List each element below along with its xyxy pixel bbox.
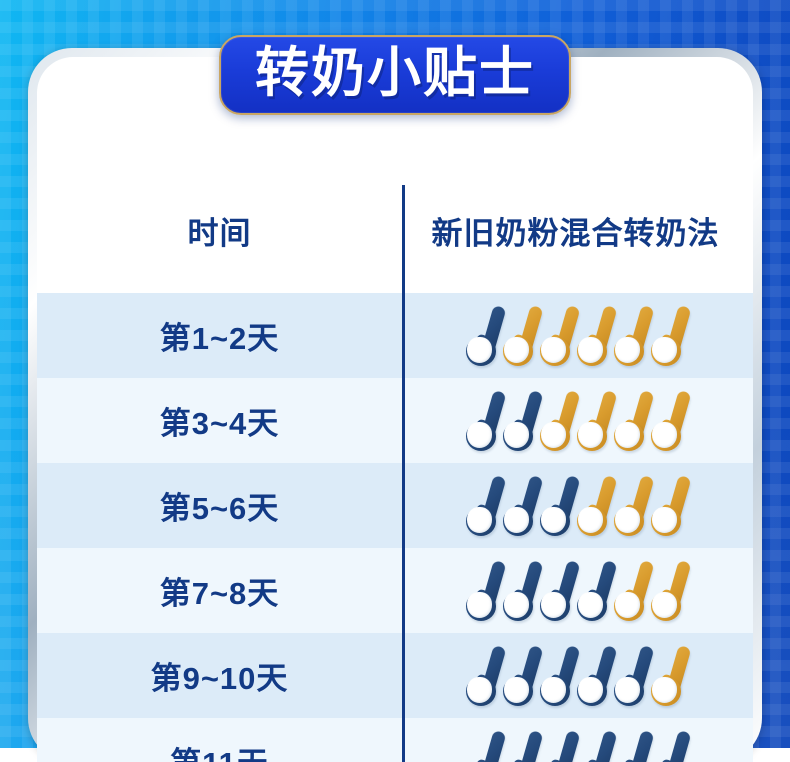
column-divider <box>402 185 405 762</box>
scoop-new-formula-icon <box>464 390 501 452</box>
card-chrome-frame: 时间 新旧奶粉混合转奶法 第1~2天第3~4天第5~6天第7~8天第9~10天第… <box>28 48 762 762</box>
scoop-bowl <box>541 677 566 703</box>
scoop-old-formula-icon <box>575 305 612 367</box>
scoop-old-formula-icon <box>612 390 649 452</box>
scoop-bowl <box>578 677 603 703</box>
scoop-bowl <box>652 422 677 448</box>
content-card: 时间 新旧奶粉混合转奶法 第1~2天第3~4天第5~6天第7~8天第9~10天第… <box>37 57 753 762</box>
row-label-time: 第3~4天 <box>37 398 402 443</box>
scoop-old-formula-icon <box>575 390 612 452</box>
scoop-new-formula-icon <box>575 730 612 762</box>
scoop-old-formula-icon <box>575 475 612 537</box>
scoop-bowl <box>578 592 603 618</box>
table-body: 第1~2天第3~4天第5~6天第7~8天第9~10天第11天 <box>37 293 753 762</box>
scoop-bowl <box>504 422 529 448</box>
scoop-bowl <box>578 337 603 363</box>
scoop-new-formula-icon <box>612 730 649 762</box>
scoop-old-formula-icon <box>538 390 575 452</box>
scoop-old-formula-icon <box>612 560 649 622</box>
row-scoop-group <box>402 645 753 707</box>
row-label-time: 第1~2天 <box>37 313 402 358</box>
scoop-bowl <box>578 507 603 533</box>
scoop-old-formula-icon <box>649 560 686 622</box>
scoop-bowl <box>541 507 566 533</box>
title-banner-wrap: 转奶小贴士 <box>0 35 790 115</box>
scoop-bowl <box>615 422 640 448</box>
scoop-new-formula-icon <box>501 390 538 452</box>
transition-table: 时间 新旧奶粉混合转奶法 第1~2天第3~4天第5~6天第7~8天第9~10天第… <box>37 167 753 762</box>
table-row: 第11天 <box>37 718 753 762</box>
scoop-new-formula-icon <box>538 645 575 707</box>
table-header-row: 时间 新旧奶粉混合转奶法 <box>37 167 753 293</box>
scoop-bowl <box>541 337 566 363</box>
scoop-bowl <box>652 337 677 363</box>
scoop-new-formula-icon <box>501 645 538 707</box>
scoop-new-formula-icon <box>464 645 501 707</box>
table-row: 第9~10天 <box>37 633 753 718</box>
table-row: 第7~8天 <box>37 548 753 633</box>
table-row: 第5~6天 <box>37 463 753 548</box>
scoop-bowl <box>504 507 529 533</box>
scoop-old-formula-icon <box>538 305 575 367</box>
scoop-bowl <box>467 677 492 703</box>
scoop-new-formula-icon <box>464 475 501 537</box>
scoop-new-formula-icon <box>464 730 501 762</box>
scoop-bowl <box>541 422 566 448</box>
row-label-time: 第11天 <box>37 738 402 762</box>
scoop-old-formula-icon <box>649 390 686 452</box>
scoop-bowl <box>467 507 492 533</box>
scoop-new-formula-icon <box>612 645 649 707</box>
column-header-time: 时间 <box>37 208 402 253</box>
scoop-bowl <box>615 337 640 363</box>
scoop-bowl <box>467 422 492 448</box>
scoop-old-formula-icon <box>612 475 649 537</box>
scoop-bowl <box>652 507 677 533</box>
scoop-bowl <box>615 592 640 618</box>
scoop-new-formula-icon <box>538 730 575 762</box>
scoop-handle <box>666 729 691 762</box>
row-label-time: 第5~6天 <box>37 483 402 528</box>
scoop-bowl <box>652 592 677 618</box>
scoop-bowl <box>615 677 640 703</box>
scoop-old-formula-icon <box>649 475 686 537</box>
scoop-old-formula-icon <box>501 305 538 367</box>
scoop-bowl <box>504 592 529 618</box>
scoop-new-formula-icon <box>464 305 501 367</box>
scoop-new-formula-icon <box>538 560 575 622</box>
page-title: 转奶小贴士 <box>255 46 535 100</box>
scoop-old-formula-icon <box>649 645 686 707</box>
row-scoop-group <box>402 305 753 367</box>
row-scoop-group <box>402 390 753 452</box>
scoop-new-formula-icon <box>575 645 612 707</box>
table-row: 第3~4天 <box>37 378 753 463</box>
row-scoop-group <box>402 730 753 762</box>
scoop-bowl <box>504 337 529 363</box>
scoop-old-formula-icon <box>649 305 686 367</box>
scoop-old-formula-icon <box>612 305 649 367</box>
scoop-bowl <box>578 422 603 448</box>
scoop-bowl <box>504 677 529 703</box>
scoop-bowl <box>467 337 492 363</box>
scoop-new-formula-icon <box>501 560 538 622</box>
title-banner: 转奶小贴士 <box>219 35 571 115</box>
scoop-new-formula-icon <box>464 560 501 622</box>
scoop-bowl <box>467 592 492 618</box>
scoop-new-formula-icon <box>575 560 612 622</box>
row-label-time: 第9~10天 <box>37 653 402 698</box>
row-scoop-group <box>402 475 753 537</box>
table-row: 第1~2天 <box>37 293 753 378</box>
scoop-bowl <box>541 592 566 618</box>
scoop-new-formula-icon <box>501 730 538 762</box>
column-header-method: 新旧奶粉混合转奶法 <box>402 208 753 253</box>
scoop-new-formula-icon <box>538 475 575 537</box>
row-scoop-group <box>402 560 753 622</box>
row-label-time: 第7~8天 <box>37 568 402 613</box>
scoop-new-formula-icon <box>649 730 686 762</box>
scoop-bowl <box>652 677 677 703</box>
scoop-new-formula-icon <box>501 475 538 537</box>
scoop-bowl <box>615 507 640 533</box>
